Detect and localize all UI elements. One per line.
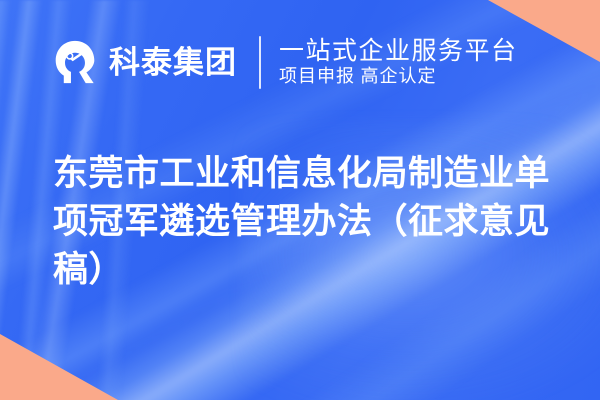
slogan-primary: 一站式企业服务平台 (279, 38, 518, 64)
promo-banner: 科泰集团 一站式企业服务平台 项目申报 高企认定 东莞市工业和信息化局制造业单项… (0, 0, 600, 400)
brand-name: 科泰集团 (109, 47, 237, 78)
brand-header: 科泰集团 一站式企业服务平台 项目申报 高企认定 (0, 24, 600, 100)
page-title: 东莞市工业和信息化局制造业单项冠军遴选管理办法（征求意见稿） (53, 150, 553, 294)
brand-slogan: 一站式企业服务平台 项目申报 高企认定 (279, 38, 518, 86)
brand-divider (259, 36, 261, 89)
ketai-circle-emblem-icon (52, 39, 98, 85)
slogan-secondary: 项目申报 高企认定 (279, 67, 518, 86)
brand-logo[interactable]: 科泰集团 (52, 39, 237, 85)
